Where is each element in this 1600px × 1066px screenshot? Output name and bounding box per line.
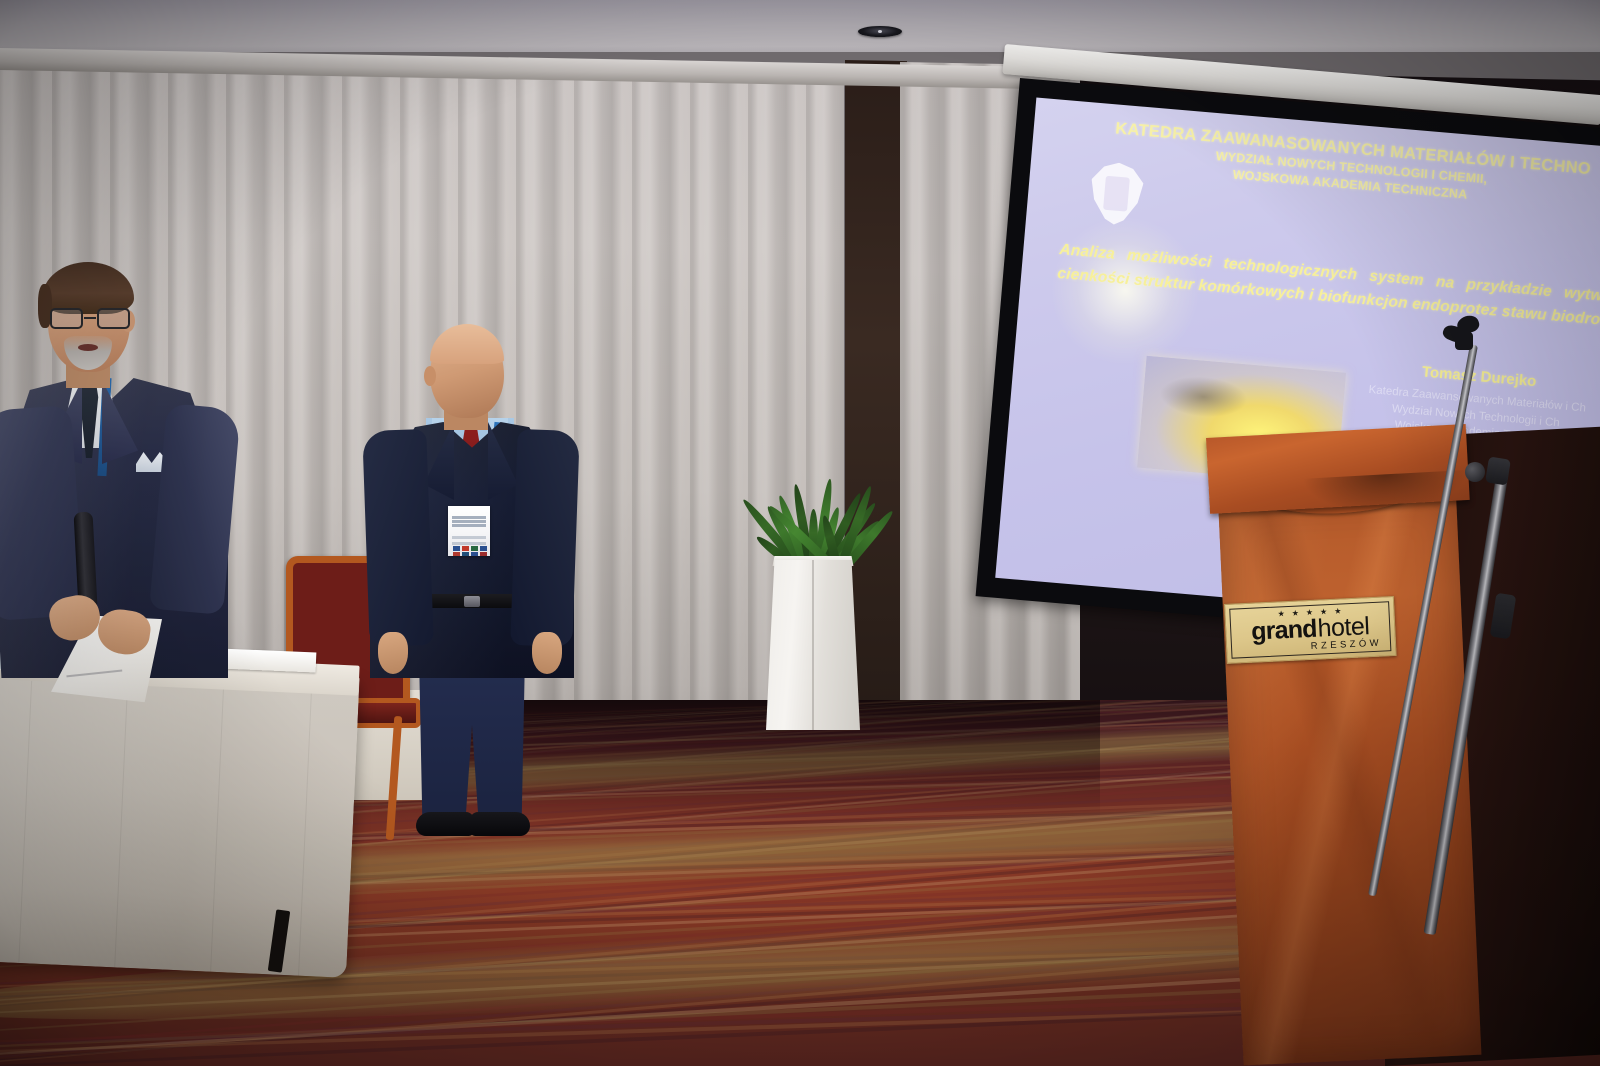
snake-plant bbox=[760, 476, 880, 568]
hotel-plaque: ★ ★ ★ ★ ★ grand hotel RZESZÓW bbox=[1224, 596, 1397, 664]
slide-photo-shadow bbox=[1158, 373, 1249, 421]
podium-front-panel bbox=[1218, 489, 1481, 1065]
slide-title: Analiza możliwości technologicznych syst… bbox=[1056, 238, 1600, 337]
slide-header: KATEDRA ZAAWANASOWANYCH MATERIAŁÓW I TEC… bbox=[1070, 115, 1600, 217]
presenter-arm-left bbox=[362, 429, 433, 647]
hotel-city: RZESZÓW bbox=[1311, 637, 1383, 651]
white-planter bbox=[766, 560, 860, 730]
glasses-icon bbox=[48, 308, 132, 330]
presenter-hand-right bbox=[532, 632, 562, 674]
speaker-arm-left bbox=[0, 405, 85, 621]
presenter-bald-crown bbox=[430, 324, 504, 364]
presenter-shoe-right bbox=[470, 812, 530, 836]
mic-stand-joint bbox=[1485, 456, 1511, 485]
speaker-mouth bbox=[78, 344, 98, 351]
presenter-belt-buckle bbox=[464, 596, 480, 607]
presenter-ear bbox=[424, 366, 436, 386]
presenter-hand-left bbox=[378, 632, 408, 674]
standing-presenter bbox=[372, 326, 572, 856]
presenter-shoe-left bbox=[416, 812, 474, 836]
speaker-hair bbox=[42, 262, 134, 314]
hotel-name-grand: grand bbox=[1251, 614, 1318, 646]
hotel-plaque-inner: ★ ★ ★ ★ ★ grand hotel RZESZÓW bbox=[1229, 601, 1391, 658]
head-table-skirt bbox=[0, 660, 360, 978]
conference-badge bbox=[448, 506, 490, 556]
conference-room-photo: KATEDRA ZAAWANASOWANYCH MATERIAŁÓW I TEC… bbox=[0, 0, 1600, 1066]
speaker-with-microphone bbox=[0, 258, 260, 678]
presenter-arm-right bbox=[510, 429, 580, 647]
microphone-clip-icon bbox=[1443, 316, 1483, 350]
mic-stand-knob bbox=[1465, 462, 1485, 482]
ceiling-speaker-icon bbox=[858, 26, 902, 37]
podium-top-surface bbox=[1206, 424, 1470, 514]
